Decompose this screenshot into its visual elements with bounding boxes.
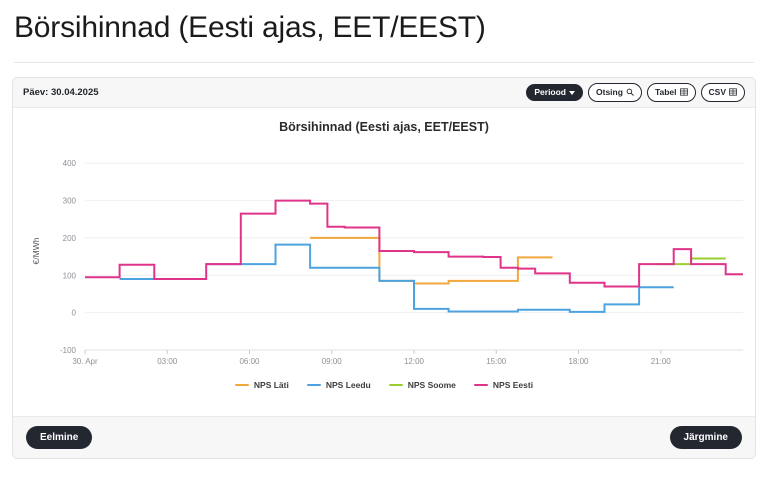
- svg-text:03:00: 03:00: [157, 357, 178, 366]
- legend-item-label: NPS Läti: [254, 380, 289, 390]
- svg-text:30. Apr: 30. Apr: [72, 357, 98, 366]
- svg-text:21:00: 21:00: [651, 357, 672, 366]
- svg-text:18:00: 18:00: [568, 357, 589, 366]
- chart-area: Börsihinnad (Eesti ajas, EET/EEST) -1000…: [13, 108, 755, 416]
- legend-swatch-icon: [474, 384, 488, 387]
- panel-toolbar: Periood Otsing Tabel CSV: [526, 83, 745, 102]
- chart-panel: Päev: 30.04.2025 Periood Otsing Tabel CS…: [12, 77, 756, 459]
- title-divider: [14, 62, 754, 63]
- legend-swatch-icon: [307, 384, 321, 387]
- legend-item[interactable]: NPS Läti: [235, 380, 289, 390]
- svg-text:12:00: 12:00: [404, 357, 425, 366]
- page-title: Börsihinnad (Eesti ajas, EET/EEST): [0, 0, 768, 46]
- otsing-button-label: Otsing: [596, 88, 623, 97]
- svg-text:06:00: 06:00: [239, 357, 260, 366]
- svg-text:200: 200: [63, 234, 77, 243]
- table-icon: [680, 88, 688, 98]
- chevron-down-icon: [569, 91, 575, 95]
- periood-button[interactable]: Periood: [526, 84, 583, 102]
- svg-text:-100: -100: [60, 346, 77, 355]
- panel-date-label: Päev: 30.04.2025: [23, 87, 99, 98]
- legend-item[interactable]: NPS Eesti: [474, 380, 533, 390]
- panel-header: Päev: 30.04.2025 Periood Otsing Tabel CS…: [13, 78, 755, 108]
- legend-swatch-icon: [389, 384, 403, 387]
- otsing-button[interactable]: Otsing: [588, 83, 642, 102]
- svg-text:400: 400: [63, 159, 77, 168]
- legend-item-label: NPS Soome: [408, 380, 456, 390]
- csv-button[interactable]: CSV: [701, 83, 745, 102]
- chart-legend: NPS LätiNPS LeeduNPS SoomeNPS Eesti: [13, 380, 755, 390]
- search-icon: [626, 88, 634, 98]
- legend-item[interactable]: NPS Soome: [389, 380, 456, 390]
- svg-text:300: 300: [63, 197, 77, 206]
- svg-text:0: 0: [72, 309, 77, 318]
- tabel-button[interactable]: Tabel: [647, 83, 696, 102]
- table-icon: [729, 88, 737, 98]
- legend-item[interactable]: NPS Leedu: [307, 380, 371, 390]
- legend-item-label: NPS Eesti: [493, 380, 533, 390]
- svg-text:15:00: 15:00: [486, 357, 507, 366]
- tabel-button-label: Tabel: [655, 88, 677, 97]
- legend-swatch-icon: [235, 384, 249, 387]
- price-step-chart[interactable]: -1000100200300400€/MWh30. Apr03:0006:000…: [13, 108, 755, 378]
- previous-button[interactable]: Eelmine: [26, 426, 92, 449]
- svg-text:€/MWh: €/MWh: [31, 237, 41, 264]
- next-button[interactable]: Järgmine: [670, 426, 742, 449]
- svg-text:100: 100: [63, 271, 77, 280]
- svg-text:09:00: 09:00: [322, 357, 343, 366]
- panel-footer: Eelmine Järgmine: [13, 416, 755, 458]
- legend-item-label: NPS Leedu: [326, 380, 371, 390]
- csv-button-label: CSV: [709, 88, 726, 97]
- periood-button-label: Periood: [534, 88, 566, 97]
